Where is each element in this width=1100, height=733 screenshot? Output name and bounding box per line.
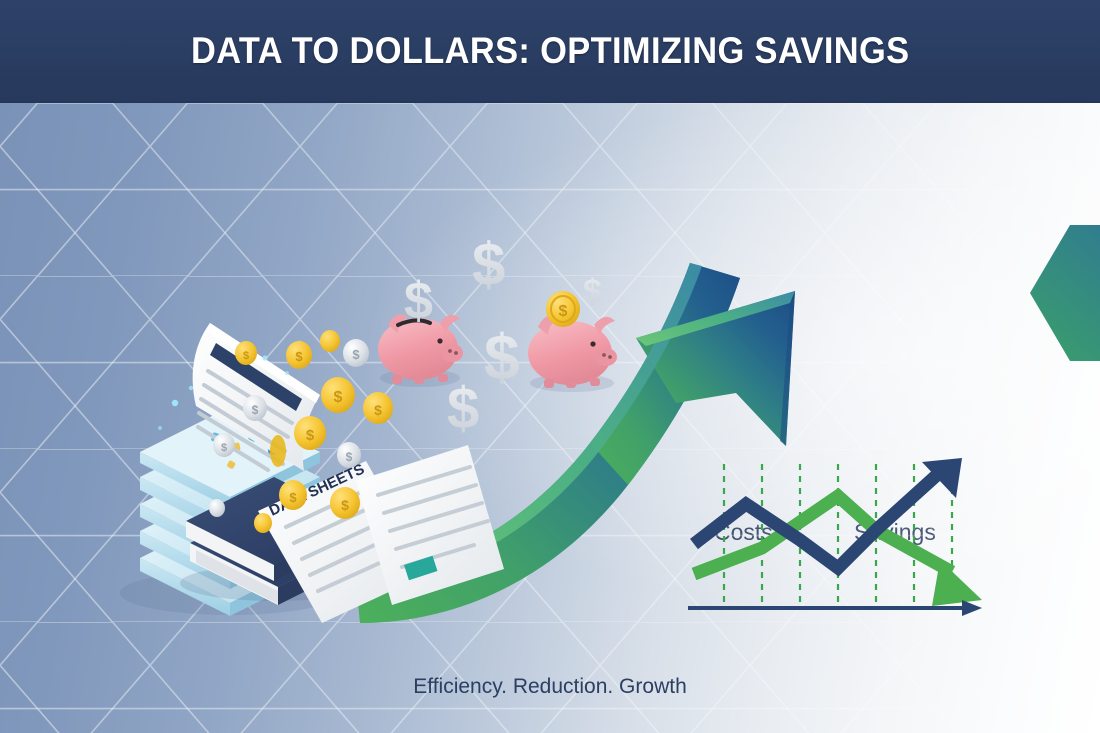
svg-text:$: $ [341,497,349,513]
svg-text:$: $ [221,442,227,454]
svg-text:$: $ [295,349,303,364]
accent-hexagon [1030,225,1100,361]
mini-line-chart [676,448,992,663]
svg-text:$: $ [252,403,259,417]
svg-text:$: $ [447,376,479,441]
svg-text:$: $ [243,350,249,362]
svg-text:$: $ [352,347,360,362]
header-bar: DATA TO DOLLARS: OPTIMIZING SAVINGS [0,0,1100,103]
svg-text:$: $ [404,272,433,330]
svg-text:$: $ [559,303,568,320]
svg-text:$: $ [472,231,505,298]
svg-text:$: $ [334,389,343,406]
svg-text:$: $ [374,402,382,418]
footer-tagline: Efficiency. Reduction. Growth [0,675,1100,699]
page-title: DATA TO DOLLARS: OPTIMIZING SAVINGS [191,30,909,72]
svg-text:$: $ [346,450,353,464]
svg-text:$: $ [583,273,602,311]
svg-text:$: $ [289,490,297,505]
infographic-canvas: DATA SHEETS [0,0,1100,733]
svg-text:$: $ [484,321,520,393]
piggy-bank: $ [528,291,617,392]
svg-text:$: $ [306,427,315,444]
